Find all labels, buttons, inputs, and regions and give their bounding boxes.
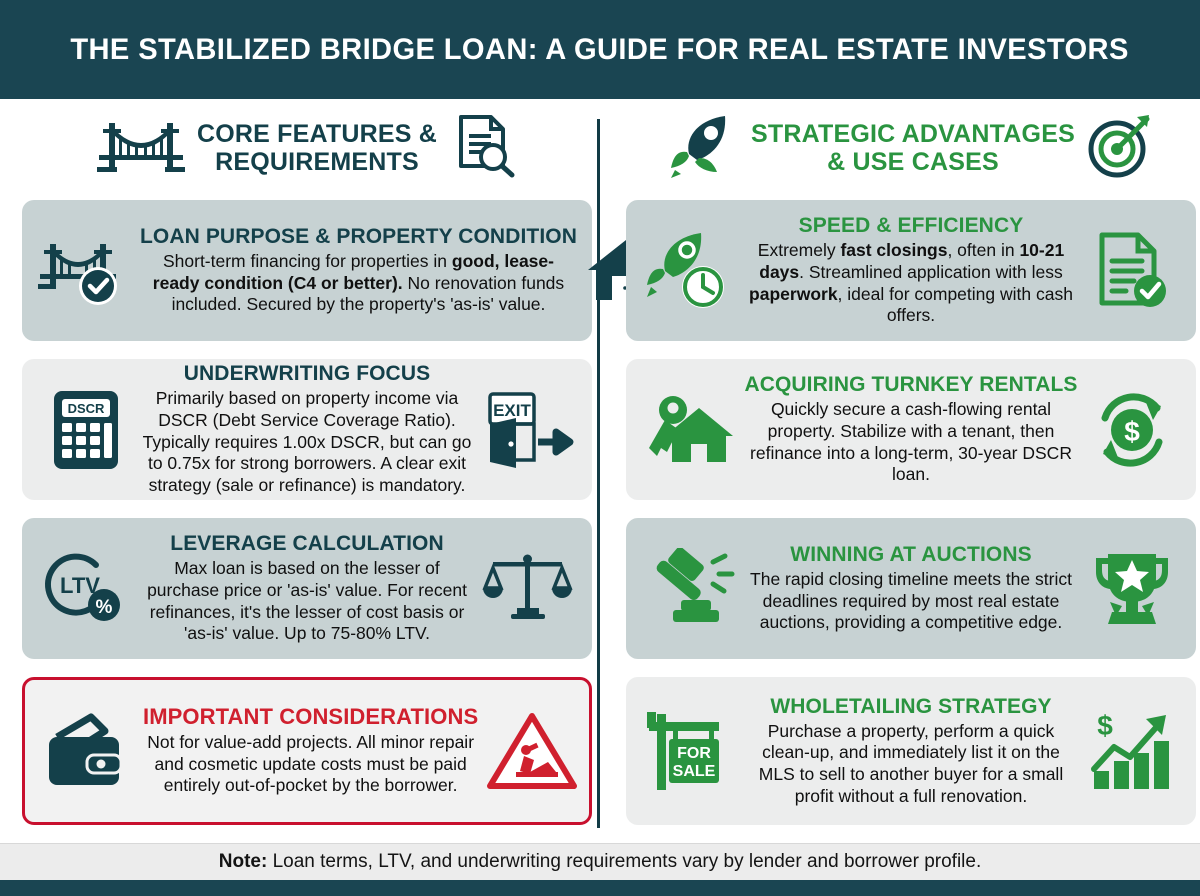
card-turnkey-rentals-body: ACQUIRING TURNKEY RENTALS Quickly secure…: [742, 373, 1080, 486]
card-wholetailing-strategy-body: WHOLETAILING STRATEGY Purchase a propert…: [742, 695, 1080, 808]
gavel-icon: [638, 548, 742, 630]
for-sale-sign-icon: FOR SALE: [638, 708, 742, 794]
card-loan-purpose[interactable]: LOAN PURPOSE & PROPERTY CONDITION Short-…: [22, 200, 592, 341]
construction-warning-icon: [480, 710, 584, 792]
card-text: Max loan is based on the lesser of purch…: [140, 558, 474, 645]
svg-text:$: $: [1097, 710, 1113, 741]
document-check-icon: [1080, 231, 1184, 311]
svg-text:%: %: [96, 597, 113, 618]
card-wholetailing-strategy[interactable]: FOR SALE WHOLETAILING STRATEGY Purchase …: [626, 677, 1196, 825]
bottom-accent-bar: [0, 880, 1200, 896]
card-winning-auctions[interactable]: WINNING AT AUCTIONS The rapid closing ti…: [626, 518, 1196, 659]
card-speed-efficiency[interactable]: SPEED & EFFICIENCY Extremely fast closin…: [626, 200, 1196, 341]
card-important-considerations[interactable]: IMPORTANT CONSIDERATIONS Not for value-a…: [22, 677, 592, 825]
trophy-star-icon: [1080, 548, 1184, 630]
card-leverage-calculation-body: LEVERAGE CALCULATION Max loan is based o…: [138, 532, 476, 645]
card-text: Not for value-add projects. All minor re…: [143, 732, 478, 797]
document-magnifier-icon: [447, 112, 519, 183]
bridge-check-icon: [34, 234, 138, 308]
card-loan-purpose-body: LOAN PURPOSE & PROPERTY CONDITION Short-…: [138, 225, 579, 316]
column-header-strategic-label: STRATEGIC ADVANTAGES & USE CASES: [751, 120, 1075, 176]
rocket-icon: [667, 110, 741, 185]
column-header-strategic-line1: STRATEGIC ADVANTAGES: [751, 120, 1075, 148]
card-text: Short-term financing for properties in g…: [140, 251, 577, 316]
svg-text:$: $: [1124, 416, 1140, 447]
card-winning-auctions-body: WINNING AT AUCTIONS The rapid closing ti…: [742, 543, 1080, 634]
column-divider: [597, 119, 600, 828]
footer-note-label: Note:: [219, 851, 268, 872]
card-text: Extremely fast closings, often in 10-21 …: [744, 240, 1078, 327]
card-title: SPEED & EFFICIENCY: [744, 214, 1078, 237]
key-house-icon: [638, 390, 742, 470]
column-header-strategic-line2: & USE CASES: [751, 148, 1075, 176]
balance-scale-icon: [476, 548, 580, 630]
card-title: LOAN PURPOSE & PROPERTY CONDITION: [140, 225, 577, 248]
exit-door-icon: EXIT: [476, 390, 580, 470]
card-title: WINNING AT AUCTIONS: [744, 543, 1078, 566]
card-important-considerations-body: IMPORTANT CONSIDERATIONS Not for value-a…: [141, 705, 480, 797]
column-header-core: CORE FEATURES & REQUIREMENTS: [22, 99, 592, 196]
card-title: UNDERWRITING FOCUS: [140, 362, 474, 385]
header-bar: THE STABILIZED BRIDGE LOAN: A GUIDE FOR …: [0, 0, 1200, 99]
card-text: The rapid closing timeline meets the str…: [744, 569, 1078, 634]
growth-chart-dollar-icon: $: [1080, 709, 1184, 793]
column-header-core-line1: CORE FEATURES &: [197, 120, 437, 148]
card-underwriting-focus-body: UNDERWRITING FOCUS Primarily based on pr…: [138, 362, 476, 497]
svg-text:EXIT: EXIT: [493, 401, 531, 420]
card-title: LEVERAGE CALCULATION: [140, 532, 474, 555]
card-text: Quickly secure a cash-flowing rental pro…: [744, 399, 1078, 486]
content-area: CORE FEATURES & REQUIREMENTS: [0, 99, 1200, 843]
card-title: IMPORTANT CONSIDERATIONS: [143, 705, 478, 729]
column-core-features: CORE FEATURES & REQUIREMENTS: [22, 99, 592, 196]
ltv-percent-icon: LTV %: [34, 549, 138, 629]
footer-note-band: Note: Loan terms, LTV, and underwriting …: [0, 843, 1200, 880]
column-strategic-advantages: STRATEGIC ADVANTAGES & USE CASES: [626, 99, 1196, 196]
card-underwriting-focus[interactable]: DSCR UNDERWRITING: [22, 359, 592, 500]
page-title: THE STABILIZED BRIDGE LOAN: A GUIDE FOR …: [71, 33, 1129, 67]
card-turnkey-rentals[interactable]: ACQUIRING TURNKEY RENTALS Quickly secure…: [626, 359, 1196, 500]
card-text: Primarily based on property income via D…: [140, 388, 474, 496]
card-speed-efficiency-body: SPEED & EFFICIENCY Extremely fast closin…: [742, 214, 1080, 327]
dollar-refresh-icon: $: [1080, 388, 1184, 472]
card-title: WHOLETAILING STRATEGY: [744, 695, 1078, 718]
rocket-clock-icon: [638, 229, 742, 313]
card-text: Purchase a property, perform a quick cle…: [744, 721, 1078, 808]
card-leverage-calculation[interactable]: LTV % LEVERAGE CALCULATION Max loan is b…: [22, 518, 592, 659]
column-header-core-line2: REQUIREMENTS: [197, 148, 437, 176]
suspension-bridge-icon: [95, 115, 187, 180]
dscr-calculator-icon: DSCR: [34, 387, 138, 473]
column-header-core-label: CORE FEATURES & REQUIREMENTS: [197, 120, 437, 176]
target-dartboard-icon: [1085, 111, 1155, 184]
footer-note-text: Loan terms, LTV, and underwriting requir…: [267, 851, 981, 872]
svg-text:DSCR: DSCR: [68, 401, 105, 416]
footer-note: Note: Loan terms, LTV, and underwriting …: [219, 851, 981, 873]
column-header-strategic: STRATEGIC ADVANTAGES & USE CASES: [626, 99, 1196, 196]
svg-text:FOR: FOR: [677, 745, 711, 762]
svg-text:SALE: SALE: [673, 763, 716, 780]
wallet-icon: [37, 709, 141, 793]
card-title: ACQUIRING TURNKEY RENTALS: [744, 373, 1078, 396]
